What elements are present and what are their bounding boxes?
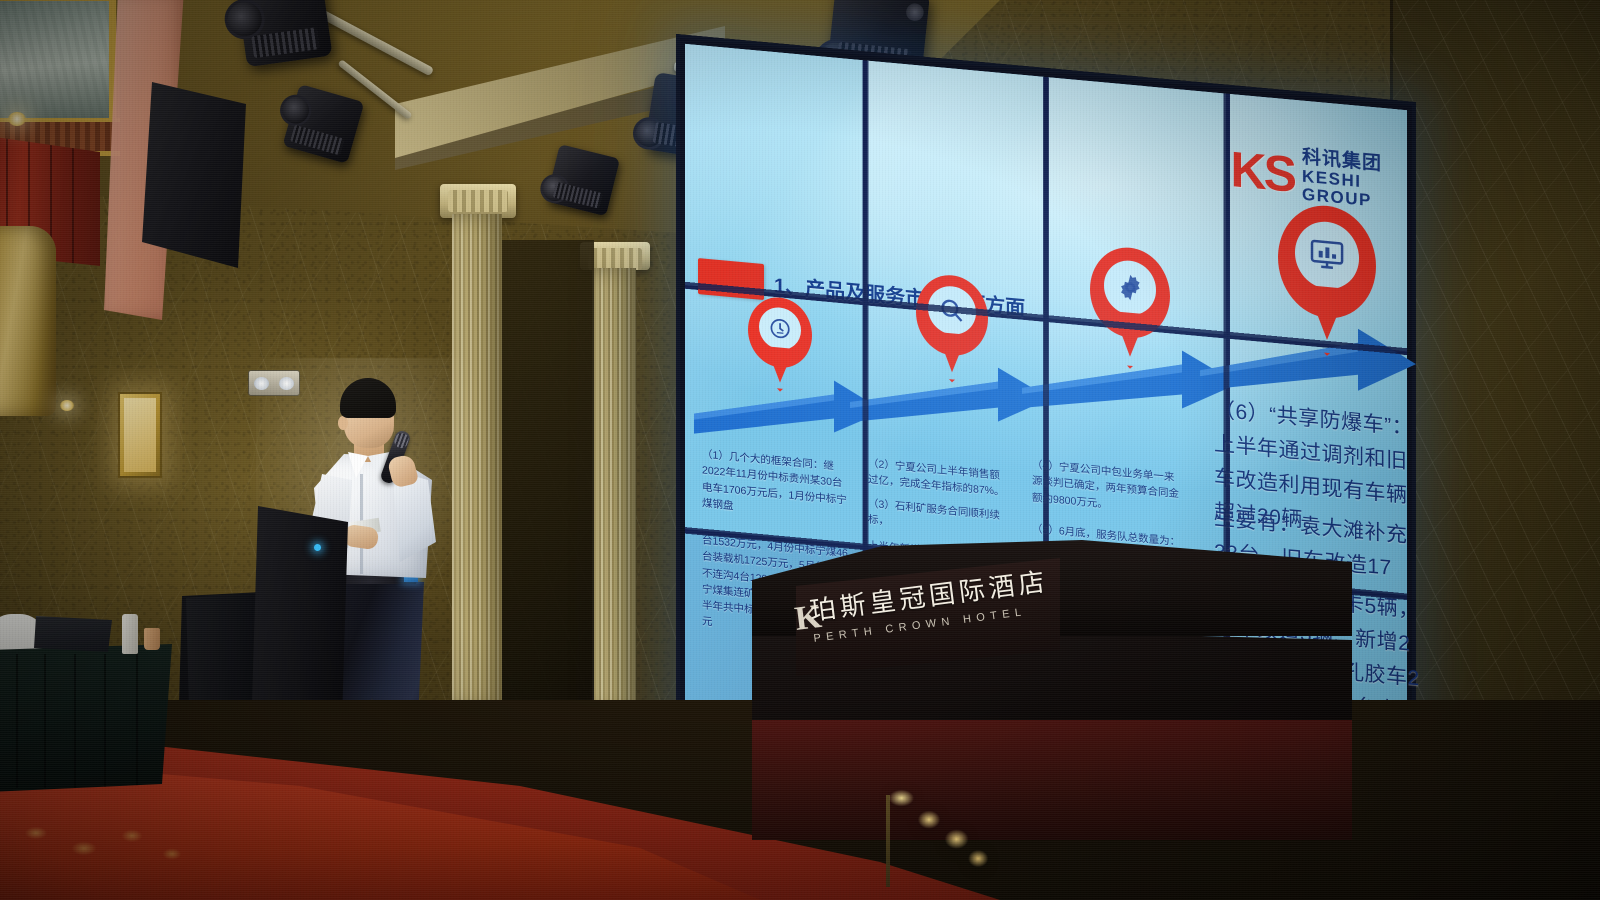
- wall-recess: [502, 240, 594, 710]
- conference-room-photo: KS 科讯集团 KESHI GROUP 1、产品及服务市场开拓方面: [0, 0, 1600, 900]
- carpet-gold-pattern: [8, 812, 208, 882]
- video-wall-panel: [867, 61, 1045, 318]
- floor-speaker-main: [252, 506, 348, 720]
- ceiling-downlight: [60, 400, 74, 411]
- column-shaft: [592, 268, 636, 716]
- emergency-light-bulb: [254, 377, 269, 390]
- emergency-light: [248, 370, 300, 396]
- hanging-speaker: [142, 82, 250, 272]
- video-wall-panel: [1048, 77, 1226, 334]
- podium-lower-panel: [752, 720, 1352, 840]
- ceiling-downlight: [8, 112, 26, 126]
- video-wall-panel: [1230, 94, 1408, 351]
- water-bottle: [122, 614, 138, 654]
- framed-artwork: [0, 0, 116, 126]
- speaker-power-led: [314, 544, 321, 551]
- podium: K 珀斯皇冠国际酒店 PERTH CROWN HOTEL: [752, 540, 1352, 840]
- gold-decorative-vase: [0, 226, 56, 416]
- wall-sconce-lamp: [118, 392, 162, 478]
- column-capital: [440, 184, 516, 218]
- emergency-light-bulb: [279, 377, 294, 390]
- gold-ornament: [875, 770, 995, 878]
- lamp-glow: [124, 398, 156, 472]
- decorative-column: [592, 268, 636, 716]
- video-wall-panel: [685, 288, 863, 545]
- paper-cup: [144, 628, 160, 650]
- presenter-ear: [338, 416, 348, 430]
- column-shaft: [452, 214, 502, 710]
- laptop-on-table: [34, 616, 112, 652]
- video-wall-panel: [867, 305, 1045, 562]
- draped-table: [0, 644, 172, 792]
- presenter-hair: [340, 378, 396, 418]
- video-wall-panel: [685, 44, 863, 301]
- decorative-column: [452, 214, 502, 710]
- artwork-canvas: [0, 1, 109, 119]
